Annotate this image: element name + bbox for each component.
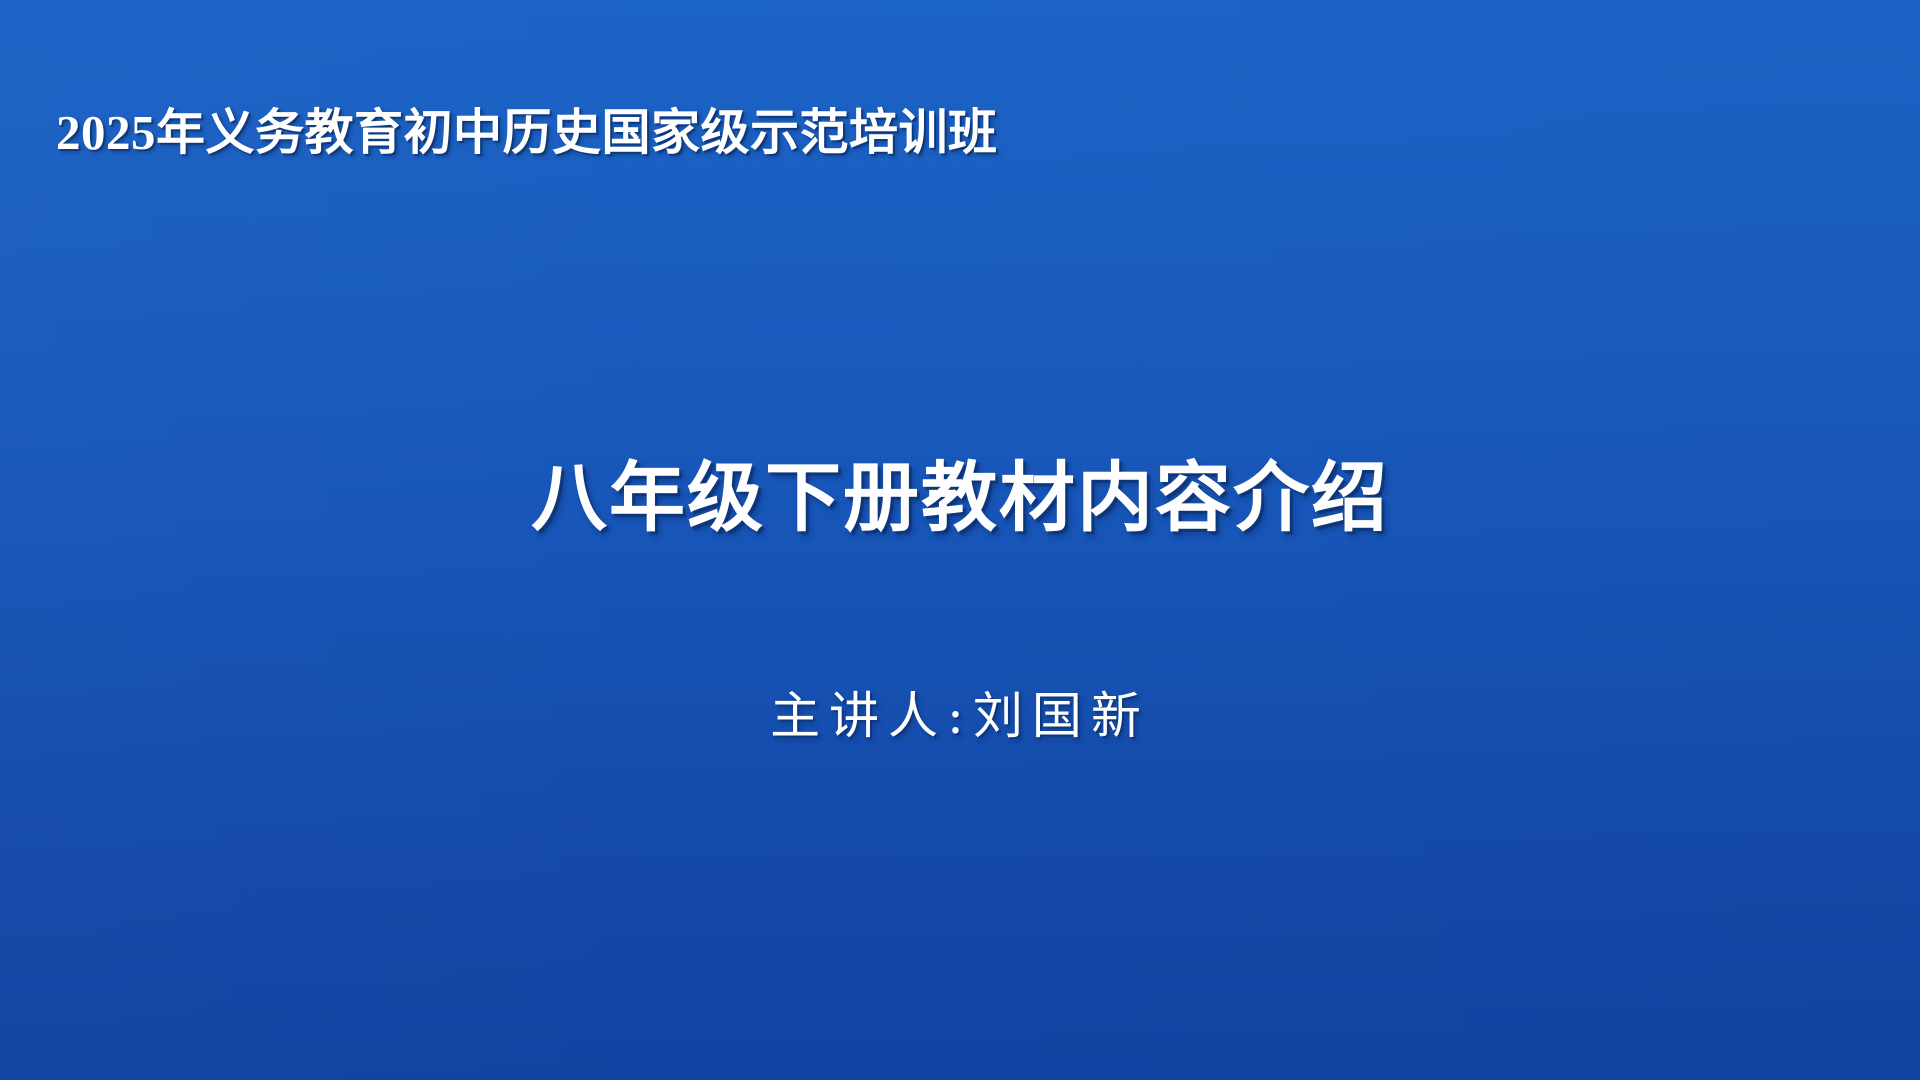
slide-header-title: 2025年义务教育初中历史国家级示范培训班 — [56, 104, 1556, 163]
slide-main-title: 八年级下册教材内容介绍 — [0, 452, 1920, 547]
slide-presenter-line: 主讲人:刘国新 — [0, 684, 1920, 749]
presentation-slide: 2025年义务教育初中历史国家级示范培训班 八年级下册教材内容介绍 主讲人:刘国… — [0, 0, 1920, 1080]
